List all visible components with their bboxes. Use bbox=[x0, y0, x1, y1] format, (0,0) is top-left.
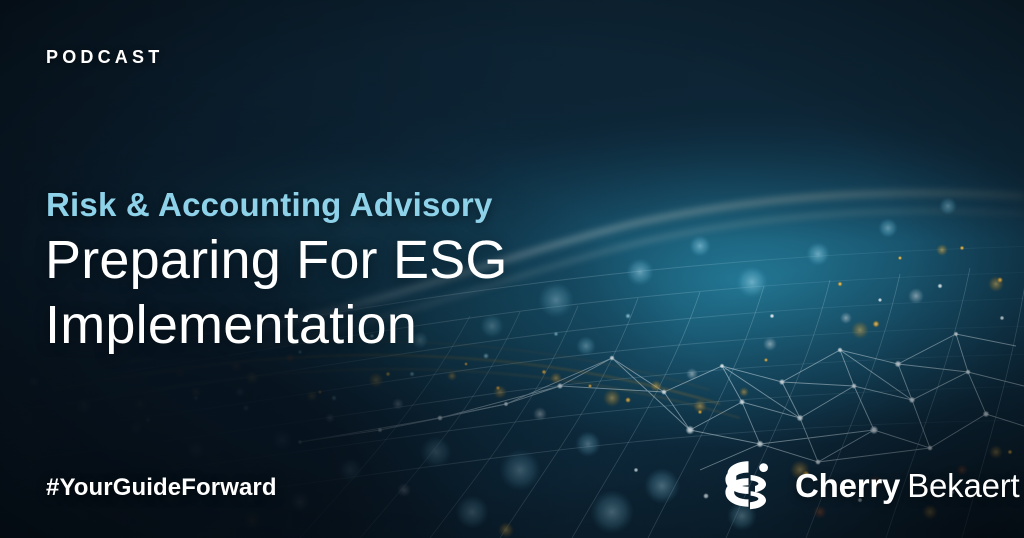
brand-hashtag: #YourGuideForward bbox=[46, 474, 277, 502]
episode-title-line-2: Implementation bbox=[45, 293, 665, 358]
episode-title-line-1: Preparing For ESG bbox=[45, 228, 665, 293]
wordmark-bekaert: Bekaert bbox=[907, 467, 1019, 504]
wordmark-cherry: Cherry bbox=[795, 467, 900, 504]
cherry-bekaert-logo: CherryBekaert bbox=[717, 458, 1020, 514]
service-line-label: Risk & Accounting Advisory bbox=[46, 186, 493, 224]
content-type-label: PODCAST bbox=[46, 47, 163, 68]
cherry-bekaert-wordmark: CherryBekaert bbox=[795, 467, 1020, 505]
cherry-bekaert-mark-icon bbox=[717, 458, 779, 514]
episode-title: Preparing For ESG Implementation bbox=[45, 228, 665, 358]
banner-content: PODCAST Risk & Accounting Advisory Prepa… bbox=[0, 0, 1024, 538]
podcast-promo-banner: PODCAST Risk & Accounting Advisory Prepa… bbox=[0, 0, 1024, 538]
